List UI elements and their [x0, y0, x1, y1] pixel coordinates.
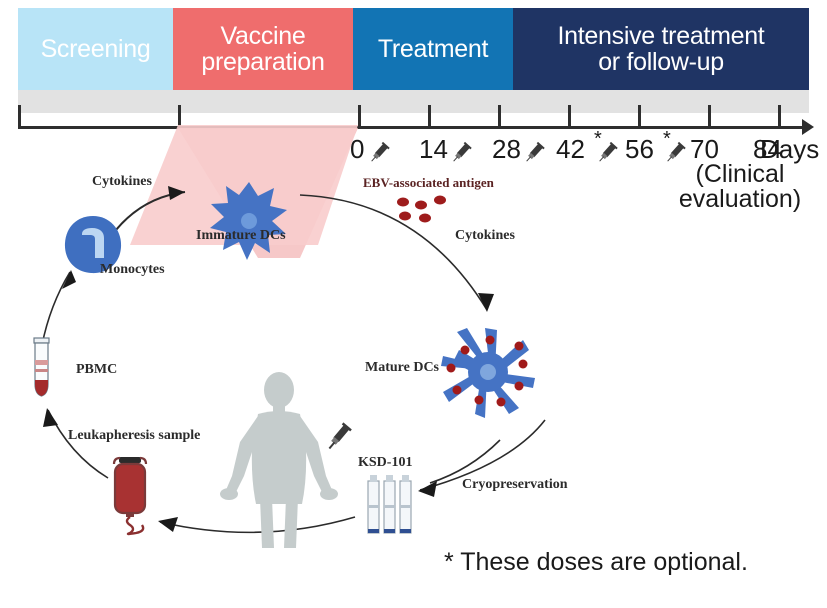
label-cytokines-right: Cytokines: [455, 228, 515, 244]
surface-antigen-dot: [519, 360, 528, 369]
vial-marking: [384, 505, 395, 508]
ebv-antigen-dots-icon: [392, 194, 464, 230]
patient-left-leg: [260, 498, 274, 548]
patient-figure-icon: [214, 372, 344, 554]
surface-antigen-dot: [497, 398, 506, 407]
arrowhead-immature-to-mature-dc: [478, 293, 494, 312]
label-ksd-101: KSD-101: [358, 455, 412, 471]
syringe-icon-patient-injection: [322, 420, 356, 454]
arrowhead-leukapheresis-to-pbmc: [43, 408, 58, 427]
vial-cap: [384, 529, 395, 533]
blood-bag-tubing: [127, 517, 143, 534]
diagram-canvas: Screening Vaccine preparation Treatment …: [0, 0, 827, 608]
blood-bag-outlet: [126, 512, 134, 517]
blood-bag-port: [119, 457, 141, 463]
label-immature-dcs: Immature DCs: [196, 228, 286, 244]
vial-plunger: [386, 475, 393, 482]
vial-cap: [400, 529, 411, 533]
antigen-dot: [434, 196, 446, 205]
mature-dendritic-cell-icon: [435, 320, 545, 425]
surface-antigen-dot: [515, 342, 524, 351]
label-mature-dcs: Mature DCs: [365, 360, 439, 376]
surface-antigen-dot: [447, 364, 456, 373]
patient-torso: [252, 411, 306, 504]
vial-plunger: [402, 475, 409, 482]
optional-doses-footnote: * These doses are optional.: [444, 548, 748, 577]
antigen-dot: [415, 201, 427, 210]
antigen-dot: [397, 198, 409, 207]
label-cytokines-left: Cytokines: [92, 174, 152, 190]
surface-antigen-dot: [461, 346, 470, 355]
patient-head: [264, 372, 294, 408]
immature-dc-nucleus: [241, 213, 257, 229]
leukapheresis-blood-bag-icon: [104, 455, 166, 535]
tube-plasma-layer: [35, 369, 48, 372]
antigen-dot: [399, 212, 411, 221]
surface-antigen-dot: [515, 382, 524, 391]
vial-cap: [368, 529, 379, 533]
patient-left-hand: [220, 488, 238, 500]
blood-bag-body: [115, 464, 145, 513]
surface-antigen-dot: [475, 396, 484, 405]
vial-marking: [368, 505, 379, 508]
label-pbmc: PBMC: [76, 362, 117, 378]
label-cryopreservation: Cryopreservation: [462, 477, 568, 493]
tube-cap: [34, 338, 49, 343]
vial-marking: [400, 505, 411, 508]
pbmc-tube-icon: [26, 336, 56, 400]
vial-plunger: [370, 475, 377, 482]
surface-antigen-dot: [486, 336, 495, 345]
tube-buffy-layer: [35, 360, 48, 365]
arrow-leukapheresis-to-pbmc: [48, 410, 108, 478]
ksd-101-vials-icon: [360, 472, 420, 538]
arrowhead-monocytes-to-immature-dc: [168, 186, 185, 200]
immature-dendritic-cell-icon: [208, 180, 290, 262]
mature-dc-nucleus: [480, 364, 496, 380]
label-monocytes: Monocytes: [100, 262, 165, 278]
antigen-dot: [419, 214, 431, 223]
label-leukapheresis: Leukapheresis sample: [68, 428, 200, 444]
patient-right-hand: [320, 488, 338, 500]
surface-antigen-dot: [453, 386, 462, 395]
label-ebv-antigen: EBV-associated antigen: [363, 175, 494, 191]
patient-right-leg: [284, 498, 298, 548]
